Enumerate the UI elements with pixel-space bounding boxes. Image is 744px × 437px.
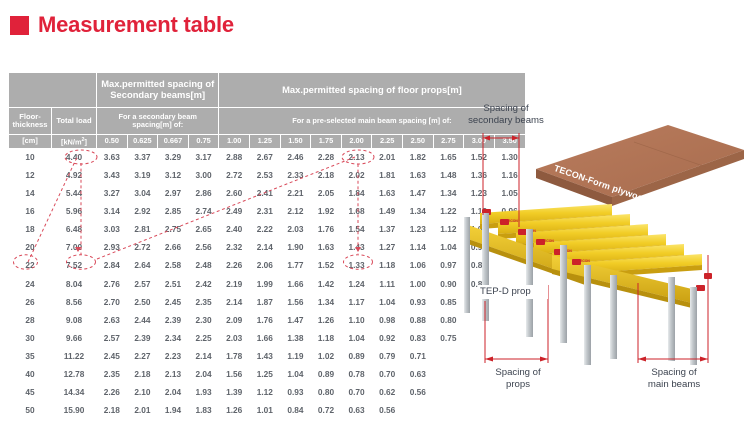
cell-spacing-value: 1.68 (342, 203, 372, 220)
table-row: 165.963.142.922.852.742.492.312.121.921.… (9, 203, 525, 220)
cell-spacing-value: 2.05 (311, 185, 341, 202)
cell-spacing-value: 1.33 (342, 258, 372, 275)
cell-spacing-value: 1.90 (281, 239, 311, 256)
cell-spacing-value: 2.76 (97, 276, 127, 293)
cell-spacing-value: 2.51 (158, 276, 188, 293)
cell-spacing-value: 3.14 (97, 203, 127, 220)
cell-spacing-value: 1.18 (311, 330, 341, 347)
cell-spacing-value: 0.63 (403, 366, 433, 383)
cell-spacing-value: 2.58 (158, 258, 188, 275)
cell-floor-thickness: 40 (9, 366, 51, 383)
cell-spacing-value: 1.92 (311, 203, 341, 220)
cell-floor-thickness: 10 (9, 149, 51, 166)
label-spacing-props: Spacing of props (478, 367, 558, 390)
cell-spacing-value: 1.99 (250, 276, 280, 293)
table-row: 4012.782.352.182.132.041.561.251.040.890… (9, 366, 525, 383)
cell-spacing-value: 2.67 (250, 149, 280, 166)
cell-spacing-value: 2.39 (128, 330, 158, 347)
cell-spacing-value: 2.32 (219, 239, 249, 256)
cell-floor-thickness: 20 (9, 239, 51, 256)
cell-spacing-value: 1.25 (250, 366, 280, 383)
cell-spacing-value: 1.81 (372, 167, 402, 184)
cell-floor-thickness: 35 (9, 348, 51, 365)
cell-spacing-value: 2.30 (189, 312, 219, 329)
cell-spacing-value: 2.72 (219, 167, 249, 184)
cell-spacing-value: 0.62 (372, 384, 402, 401)
cell-spacing-value: 2.86 (189, 185, 219, 202)
sub-header-floor-thickness: Floor-thickness (9, 108, 51, 134)
cell-spacing-value: 1.34 (403, 203, 433, 220)
cell-total-load: 8.04 (52, 276, 96, 293)
table-sub-header-row: Floor-thickness Total load For a seconda… (9, 108, 525, 134)
cell-spacing-value: 2.42 (189, 276, 219, 293)
cell-spacing-value: 2.39 (158, 312, 188, 329)
cell-spacing-value: 1.24 (342, 276, 372, 293)
cell-spacing-value: 1.93 (189, 384, 219, 401)
cell-spacing-value: 1.52 (311, 258, 341, 275)
cell-spacing-value: 2.64 (128, 258, 158, 275)
cell-spacing-value: 1.87 (250, 294, 280, 311)
cell-spacing-value: 2.14 (189, 348, 219, 365)
cell-floor-thickness: 45 (9, 384, 51, 401)
cell-spacing-value: 2.84 (97, 258, 127, 275)
cell-spacing-value (434, 384, 464, 401)
cell-spacing-value: 0.56 (403, 384, 433, 401)
cell-spacing-value: 2.45 (97, 348, 127, 365)
cell-floor-thickness: 28 (9, 312, 51, 329)
sub-header-secondary-beam-spacing: For a secondary beam spacing[m] of: (97, 108, 218, 134)
group-header-floor-props: Max.permitted spacing of floor props[m] (219, 73, 524, 107)
cell-spacing-value: 2.26 (219, 258, 249, 275)
cell-floor-thickness: 50 (9, 402, 51, 419)
cell-spacing-value: 1.56 (281, 294, 311, 311)
cell-spacing-value: 1.19 (281, 348, 311, 365)
table-row: 227.522.842.642.582.482.262.061.771.521.… (9, 258, 525, 275)
formwork-diagram: TECON TECON TECON TECON TECON (460, 105, 744, 405)
table-row: 207.002.932.722.662.562.322.141.901.631.… (9, 239, 525, 256)
cell-spacing-value: 2.34 (158, 330, 188, 347)
cell-spacing-value: 2.63 (97, 312, 127, 329)
cell-spacing-value: 2.33 (281, 167, 311, 184)
cell-spacing-value: 1.94 (158, 402, 188, 419)
cell-spacing-value: 2.66 (158, 239, 188, 256)
cell-spacing-value: 2.65 (189, 221, 219, 238)
cell-spacing-value: 2.27 (128, 348, 158, 365)
cell-spacing-value (434, 348, 464, 365)
cell-spacing-value: 2.50 (128, 294, 158, 311)
measurement-table-container: Max.permitted spacing of Secondary beams… (8, 72, 460, 420)
cell-spacing-value: 1.63 (372, 185, 402, 202)
cell-spacing-value: 1.11 (372, 276, 402, 293)
table-unit-header-row: [cm][kN/m2]0.500.6250.6670.751.001.251.5… (9, 135, 525, 148)
cell-spacing-value: 2.10 (128, 384, 158, 401)
cell-spacing-value (434, 402, 464, 419)
table-row: 145.443.273.042.972.862.602.412.212.051.… (9, 185, 525, 202)
cell-spacing-value: 1.00 (403, 276, 433, 293)
cell-spacing-value (403, 402, 433, 419)
cell-spacing-value: 2.19 (219, 276, 249, 293)
cell-spacing-value: 1.23 (403, 221, 433, 238)
cell-total-load: 4.92 (52, 167, 96, 184)
table-row: 248.042.762.572.512.422.191.991.661.421.… (9, 276, 525, 293)
cell-spacing-value: 2.22 (250, 221, 280, 238)
cell-spacing-value: 1.66 (281, 276, 311, 293)
cell-floor-thickness: 30 (9, 330, 51, 347)
cell-spacing-value: 2.14 (219, 294, 249, 311)
cell-spacing-value: 3.43 (97, 167, 127, 184)
unit-header-spacing-0.75: 0.75 (189, 135, 219, 148)
cell-spacing-value: 1.22 (434, 203, 464, 220)
cell-floor-thickness: 12 (9, 167, 51, 184)
cell-spacing-value: 1.82 (403, 149, 433, 166)
cell-spacing-value: 2.35 (189, 294, 219, 311)
cell-spacing-value: 0.83 (403, 330, 433, 347)
cell-spacing-value: 2.81 (128, 221, 158, 238)
cell-total-load: 12.78 (52, 366, 96, 383)
unit-header-spacing-2.25: 2.25 (372, 135, 402, 148)
cell-spacing-value: 2.14 (250, 239, 280, 256)
cell-spacing-value: 2.40 (219, 221, 249, 238)
cell-spacing-value: 1.12 (434, 221, 464, 238)
cell-spacing-value: 1.04 (342, 330, 372, 347)
table-row: 268.562.702.502.452.352.141.871.561.341.… (9, 294, 525, 311)
cell-total-load: 8.56 (52, 294, 96, 311)
cell-spacing-value: 2.93 (97, 239, 127, 256)
table-row: 124.923.433.193.123.002.722.532.332.182.… (9, 167, 525, 184)
table-row: 104.403.633.373.293.172.882.672.462.282.… (9, 149, 525, 166)
label-tep-d-prop: TEP-D prop (478, 285, 548, 299)
cell-spacing-value: 2.46 (281, 149, 311, 166)
cell-spacing-value: 2.57 (97, 330, 127, 347)
cell-spacing-value: 2.85 (158, 203, 188, 220)
cell-total-load: 6.48 (52, 221, 96, 238)
cell-spacing-value: 2.44 (128, 312, 158, 329)
cell-spacing-value: 1.14 (403, 239, 433, 256)
table-row: 3511.222.452.272.232.141.781.431.191.020… (9, 348, 525, 365)
group-header-secondary-beams: Max.permitted spacing of Secondary beams… (97, 73, 218, 107)
unit-header-spacing-2.00: 2.00 (342, 135, 372, 148)
cell-spacing-value: 2.53 (250, 167, 280, 184)
cell-spacing-value: 3.19 (128, 167, 158, 184)
cell-spacing-value (434, 366, 464, 383)
cell-spacing-value: 2.18 (97, 402, 127, 419)
group-header-blank (9, 73, 96, 107)
cell-spacing-value: 1.26 (219, 402, 249, 419)
cell-spacing-value: 2.12 (281, 203, 311, 220)
unit-header-spacing-0.667: 0.667 (158, 135, 188, 148)
cell-spacing-value: 0.92 (372, 330, 402, 347)
cell-total-load: 14.34 (52, 384, 96, 401)
table-header: Max.permitted spacing of Secondary beams… (9, 73, 525, 148)
page-title: Measurement table (10, 12, 234, 38)
cell-spacing-value: 2.97 (158, 185, 188, 202)
cell-spacing-value: 0.70 (372, 366, 402, 383)
cell-spacing-value: 3.00 (189, 167, 219, 184)
cell-spacing-value: 2.28 (311, 149, 341, 166)
cell-spacing-value: 2.18 (311, 167, 341, 184)
cell-spacing-value: 2.02 (342, 167, 372, 184)
cell-spacing-value: 1.43 (250, 348, 280, 365)
cell-spacing-value: 2.57 (128, 276, 158, 293)
cell-spacing-value: 0.97 (434, 258, 464, 275)
cell-spacing-value: 1.54 (342, 221, 372, 238)
cell-spacing-value: 1.04 (434, 239, 464, 256)
cell-spacing-value: 1.63 (403, 167, 433, 184)
cell-spacing-value: 1.12 (250, 384, 280, 401)
cell-spacing-value: 1.78 (219, 348, 249, 365)
cell-spacing-value: 0.79 (372, 348, 402, 365)
page-title-text: Measurement table (38, 12, 234, 38)
cell-floor-thickness: 24 (9, 276, 51, 293)
cell-spacing-value: 2.01 (128, 402, 158, 419)
cell-spacing-value: 0.71 (403, 348, 433, 365)
cell-spacing-value: 1.27 (372, 239, 402, 256)
cell-spacing-value: 3.27 (97, 185, 127, 202)
cell-total-load: 9.66 (52, 330, 96, 347)
cell-spacing-value: 2.09 (219, 312, 249, 329)
cell-spacing-value: 2.03 (281, 221, 311, 238)
cell-spacing-value: 3.17 (189, 149, 219, 166)
unit-header-spacing-0.50: 0.50 (97, 135, 127, 148)
cell-spacing-value: 1.49 (372, 203, 402, 220)
cell-spacing-value: 1.77 (281, 258, 311, 275)
title-bullet-square (10, 16, 29, 35)
measurement-table: Max.permitted spacing of Secondary beams… (8, 72, 526, 420)
cell-spacing-value: 2.26 (97, 384, 127, 401)
cell-spacing-value: 1.84 (342, 185, 372, 202)
cell-spacing-value: 2.56 (189, 239, 219, 256)
formwork-illustration: TECON TECON TECON TECON TECON (460, 105, 744, 405)
cell-floor-thickness: 18 (9, 221, 51, 238)
cell-spacing-value: 1.26 (311, 312, 341, 329)
cell-spacing-value: 0.93 (281, 384, 311, 401)
table-row: 4514.342.262.102.041.931.391.120.930.800… (9, 384, 525, 401)
cell-spacing-value: 3.29 (158, 149, 188, 166)
cell-spacing-value: 1.38 (281, 330, 311, 347)
unit-header-load: [kN/m2] (52, 135, 96, 148)
cell-total-load: 5.96 (52, 203, 96, 220)
cell-spacing-value: 2.01 (372, 149, 402, 166)
cell-spacing-value: 2.13 (342, 149, 372, 166)
cell-spacing-value: 2.60 (219, 185, 249, 202)
cell-spacing-value: 1.47 (403, 185, 433, 202)
cell-spacing-value: 2.13 (158, 366, 188, 383)
cell-spacing-value: 0.56 (372, 402, 402, 419)
cell-spacing-value: 2.21 (281, 185, 311, 202)
cell-floor-thickness: 26 (9, 294, 51, 311)
cell-spacing-value: 0.63 (342, 402, 372, 419)
cell-spacing-value: 0.72 (311, 402, 341, 419)
cell-spacing-value: 2.18 (128, 366, 158, 383)
cell-spacing-value: 1.04 (372, 294, 402, 311)
cell-spacing-value: 0.89 (311, 366, 341, 383)
unit-header-spacing-1.00: 1.00 (219, 135, 249, 148)
cell-spacing-value: 2.72 (128, 239, 158, 256)
cell-spacing-value: 2.41 (250, 185, 280, 202)
unit-header-spacing-1.25: 1.25 (250, 135, 280, 148)
cell-spacing-value: 1.02 (311, 348, 341, 365)
cell-spacing-value: 2.75 (158, 221, 188, 238)
cell-spacing-value: 0.70 (342, 384, 372, 401)
cell-spacing-value: 1.48 (434, 167, 464, 184)
cell-spacing-value: 1.01 (250, 402, 280, 419)
unit-header-thickness: [cm] (9, 135, 51, 148)
cell-spacing-value: 3.37 (128, 149, 158, 166)
cell-total-load: 7.52 (52, 258, 96, 275)
cell-spacing-value: 1.18 (372, 258, 402, 275)
cell-total-load: 9.08 (52, 312, 96, 329)
cell-spacing-value: 3.03 (97, 221, 127, 238)
unit-header-spacing-2.50: 2.50 (403, 135, 433, 148)
cell-spacing-value: 1.34 (311, 294, 341, 311)
cell-spacing-value: 0.80 (311, 384, 341, 401)
cell-spacing-value: 2.74 (189, 203, 219, 220)
cell-total-load: 11.22 (52, 348, 96, 365)
unit-header-spacing-2.75: 2.75 (434, 135, 464, 148)
cell-spacing-value: 1.56 (219, 366, 249, 383)
cell-spacing-value: 1.42 (311, 276, 341, 293)
cell-spacing-value: 1.65 (434, 149, 464, 166)
label-spacing-main-beams: Spacing of main beams (632, 367, 716, 390)
cell-spacing-value: 2.92 (128, 203, 158, 220)
cell-spacing-value: 2.25 (189, 330, 219, 347)
cell-spacing-value: 0.93 (403, 294, 433, 311)
cell-spacing-value: 0.80 (434, 312, 464, 329)
cell-spacing-value: 3.12 (158, 167, 188, 184)
cell-spacing-value: 2.48 (189, 258, 219, 275)
cell-spacing-value: 0.90 (434, 276, 464, 293)
cell-spacing-value: 2.04 (158, 384, 188, 401)
cell-spacing-value: 1.43 (342, 239, 372, 256)
cell-spacing-value: 1.34 (434, 185, 464, 202)
cell-spacing-value: 2.45 (158, 294, 188, 311)
cell-spacing-value: 1.06 (403, 258, 433, 275)
cell-spacing-value: 2.88 (219, 149, 249, 166)
cell-spacing-value: 2.70 (97, 294, 127, 311)
table-row: 5015.902.182.011.941.831.261.010.840.720… (9, 402, 525, 419)
sub-header-total-load: Total load (52, 108, 96, 134)
cell-spacing-value: 0.89 (342, 348, 372, 365)
cell-spacing-value: 0.78 (342, 366, 372, 383)
table-group-header-row: Max.permitted spacing of Secondary beams… (9, 73, 525, 107)
cell-total-load: 7.00 (52, 239, 96, 256)
cell-spacing-value: 1.37 (372, 221, 402, 238)
cell-spacing-value: 2.49 (219, 203, 249, 220)
cell-spacing-value: 1.47 (281, 312, 311, 329)
cell-spacing-value: 3.04 (128, 185, 158, 202)
cell-spacing-value: 0.85 (434, 294, 464, 311)
cell-spacing-value: 3.63 (97, 149, 127, 166)
cell-spacing-value: 1.76 (250, 312, 280, 329)
unit-header-spacing-1.50: 1.50 (281, 135, 311, 148)
table-row: 289.082.632.442.392.302.091.761.471.261.… (9, 312, 525, 329)
cell-floor-thickness: 14 (9, 185, 51, 202)
cell-total-load: 15.90 (52, 402, 96, 419)
cell-spacing-value: 1.83 (189, 402, 219, 419)
label-spacing-secondary-beams: Spacing of secondary beams (458, 103, 554, 126)
cell-spacing-value: 0.75 (434, 330, 464, 347)
cell-floor-thickness: 22 (9, 258, 51, 275)
cell-spacing-value: 2.35 (97, 366, 127, 383)
cell-spacing-value: 2.06 (250, 258, 280, 275)
table-body: 104.403.633.373.293.172.882.672.462.282.… (9, 149, 525, 419)
cell-spacing-value: 1.04 (281, 366, 311, 383)
cell-spacing-value: 2.31 (250, 203, 280, 220)
cell-spacing-value: 1.39 (219, 384, 249, 401)
cell-spacing-value: 2.04 (189, 366, 219, 383)
cell-spacing-value: 1.66 (250, 330, 280, 347)
cell-spacing-value: 0.98 (372, 312, 402, 329)
cell-floor-thickness: 16 (9, 203, 51, 220)
cell-spacing-value: 1.10 (342, 312, 372, 329)
table-row: 309.662.572.392.342.252.031.661.381.181.… (9, 330, 525, 347)
cell-spacing-value: 2.23 (158, 348, 188, 365)
unit-header-spacing-0.625: 0.625 (128, 135, 158, 148)
cell-spacing-value: 1.63 (311, 239, 341, 256)
unit-header-spacing-1.75: 1.75 (311, 135, 341, 148)
cell-spacing-value: 0.84 (281, 402, 311, 419)
cell-spacing-value: 2.03 (219, 330, 249, 347)
cell-total-load: 5.44 (52, 185, 96, 202)
cell-spacing-value: 1.17 (342, 294, 372, 311)
cell-spacing-value: 0.88 (403, 312, 433, 329)
cell-spacing-value: 1.76 (311, 221, 341, 238)
cell-total-load: 4.40 (52, 149, 96, 166)
table-row: 186.483.032.812.752.652.402.222.031.761.… (9, 221, 525, 238)
